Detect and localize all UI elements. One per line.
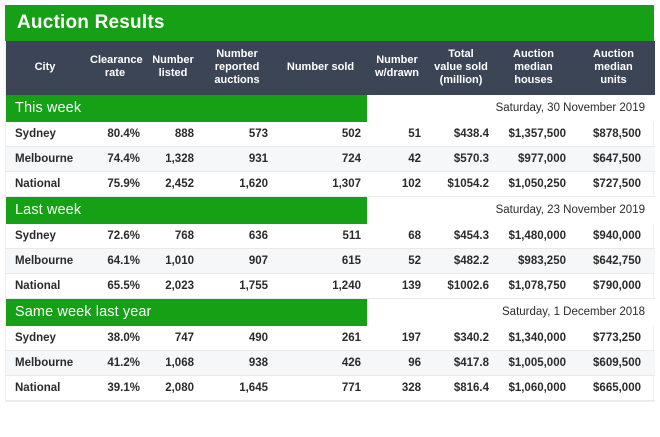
cell-houses: $1,078,750 xyxy=(495,273,572,298)
table-row[interactable]: National65.5%2,0231,7551,240139$1002.6$1… xyxy=(6,273,655,298)
cell-wdrawn: 96 xyxy=(367,350,427,375)
cell-reported: 573 xyxy=(200,122,274,147)
cell-units: $665,000 xyxy=(572,375,655,400)
column-header-line: listed xyxy=(159,67,188,79)
column-header-auction-median-units: Auctionmedianunits xyxy=(572,41,655,95)
table-header: City Clearancerate Numberlisted Numberre… xyxy=(6,41,655,95)
cell-houses: $1,357,500 xyxy=(495,122,572,147)
cell-city: Sydney xyxy=(6,122,84,147)
table-row[interactable]: Melbourne41.2%1,06893842696$417.8$1,005,… xyxy=(6,350,655,375)
column-header-number-withdrawn: Numberw/drawn xyxy=(367,41,427,95)
cell-sold: 261 xyxy=(274,326,367,351)
column-header-line: median xyxy=(514,61,553,73)
column-header-row: City Clearancerate Numberlisted Numberre… xyxy=(6,41,655,95)
cell-value: $482.2 xyxy=(427,248,495,273)
section-header-cell: Last weekSaturday, 23 November 2019 xyxy=(6,196,655,224)
section-header-row: This weekSaturday, 30 November 2019 xyxy=(6,95,655,122)
cell-clearance: 75.9% xyxy=(84,171,146,196)
section-label: Same week last year xyxy=(15,304,152,320)
column-header-line: median xyxy=(594,61,633,73)
cell-units: $773,250 xyxy=(572,326,655,351)
cell-city: Sydney xyxy=(6,224,84,249)
cell-houses: $1,060,000 xyxy=(495,375,572,400)
column-header-number-sold: Number sold xyxy=(274,41,367,95)
auction-results-page: Auction Results City Clearancerate Numbe… xyxy=(0,0,660,437)
cell-value: $1002.6 xyxy=(427,273,495,298)
cell-clearance: 74.4% xyxy=(84,146,146,171)
cell-reported: 931 xyxy=(200,146,274,171)
auction-results-table: City Clearancerate Numberlisted Numberre… xyxy=(6,41,655,401)
table-row[interactable]: Sydney38.0%747490261197$340.2$1,340,000$… xyxy=(6,326,655,351)
cell-sold: 502 xyxy=(274,122,367,147)
table-row[interactable]: Sydney80.4%88857350251$438.4$1,357,500$8… xyxy=(6,122,655,147)
cell-city: Melbourne xyxy=(6,248,84,273)
section-label: Last week xyxy=(15,202,81,218)
cell-listed: 2,080 xyxy=(146,375,200,400)
cell-units: $878,500 xyxy=(572,122,655,147)
cell-city: National xyxy=(6,375,84,400)
cell-city: Melbourne xyxy=(6,350,84,375)
cell-clearance: 64.1% xyxy=(84,248,146,273)
column-header-line: (million) xyxy=(440,74,483,86)
cell-value: $570.3 xyxy=(427,146,495,171)
cell-listed: 1,328 xyxy=(146,146,200,171)
cell-houses: $1,340,000 xyxy=(495,326,572,351)
column-header-line: rate xyxy=(105,67,125,79)
cell-wdrawn: 51 xyxy=(367,122,427,147)
cell-clearance: 80.4% xyxy=(84,122,146,147)
cell-units: $940,000 xyxy=(572,224,655,249)
cell-clearance: 72.6% xyxy=(84,224,146,249)
table-row[interactable]: Sydney72.6%76863651168$454.3$1,480,000$9… xyxy=(6,224,655,249)
column-header-line: value sold xyxy=(434,61,488,73)
cell-units: $790,000 xyxy=(572,273,655,298)
section-header-cell: This weekSaturday, 30 November 2019 xyxy=(6,95,655,122)
cell-units: $727,500 xyxy=(572,171,655,196)
cell-sold: 771 xyxy=(274,375,367,400)
cell-reported: 1,645 xyxy=(200,375,274,400)
cell-wdrawn: 102 xyxy=(367,171,427,196)
cell-listed: 2,023 xyxy=(146,273,200,298)
column-header-line: auctions xyxy=(214,74,259,86)
table-row[interactable]: Melbourne74.4%1,32893172442$570.3$977,00… xyxy=(6,146,655,171)
cell-listed: 1,068 xyxy=(146,350,200,375)
column-header-line: Clearance xyxy=(90,54,143,66)
column-header-auction-median-houses: Auctionmedianhouses xyxy=(495,41,572,95)
cell-sold: 1,307 xyxy=(274,171,367,196)
cell-city: Sydney xyxy=(6,326,84,351)
cell-reported: 1,620 xyxy=(200,171,274,196)
column-header-line: houses xyxy=(514,74,553,86)
column-header-total-value-sold: Totalvalue sold(million) xyxy=(427,41,495,95)
cell-listed: 1,010 xyxy=(146,248,200,273)
column-header-line: units xyxy=(600,74,626,86)
column-header-line: Total xyxy=(448,48,473,60)
section-date-box: Saturday, 1 December 2018 xyxy=(367,299,655,326)
cell-sold: 426 xyxy=(274,350,367,375)
cell-units: $609,500 xyxy=(572,350,655,375)
cell-value: $438.4 xyxy=(427,122,495,147)
cell-wdrawn: 197 xyxy=(367,326,427,351)
table-frame: City Clearancerate Numberlisted Numberre… xyxy=(5,41,654,402)
cell-reported: 636 xyxy=(200,224,274,249)
table-row[interactable]: Melbourne64.1%1,01090761552$482.2$983,25… xyxy=(6,248,655,273)
section-header-cell: Same week last yearSaturday, 1 December … xyxy=(6,298,655,326)
cell-houses: $977,000 xyxy=(495,146,572,171)
column-header-city: City xyxy=(6,41,84,95)
cell-listed: 768 xyxy=(146,224,200,249)
cell-houses: $1,050,250 xyxy=(495,171,572,196)
cell-sold: 1,240 xyxy=(274,273,367,298)
column-header-line: Number xyxy=(216,48,258,60)
cell-city: Melbourne xyxy=(6,146,84,171)
table-row[interactable]: National39.1%2,0801,645771328$816.4$1,06… xyxy=(6,375,655,400)
cell-wdrawn: 52 xyxy=(367,248,427,273)
column-header-line: Auction xyxy=(593,48,634,60)
cell-wdrawn: 42 xyxy=(367,146,427,171)
column-header-clearance-rate: Clearancerate xyxy=(84,41,146,95)
cell-houses: $1,480,000 xyxy=(495,224,572,249)
cell-listed: 2,452 xyxy=(146,171,200,196)
cell-clearance: 38.0% xyxy=(84,326,146,351)
column-header-line: Number sold xyxy=(287,61,354,73)
table-body: This weekSaturday, 30 November 2019Sydne… xyxy=(6,95,655,401)
section-header-row: Same week last yearSaturday, 1 December … xyxy=(6,298,655,326)
section-band: Last week xyxy=(6,197,367,224)
section-date-box: Saturday, 23 November 2019 xyxy=(367,197,655,224)
column-header-number-listed: Numberlisted xyxy=(146,41,200,95)
column-header-line: City xyxy=(35,61,56,73)
column-header-line: reported xyxy=(215,61,260,73)
column-header-line: Number xyxy=(376,54,418,66)
cell-reported: 907 xyxy=(200,248,274,273)
cell-houses: $983,250 xyxy=(495,248,572,273)
cell-value: $417.8 xyxy=(427,350,495,375)
cell-clearance: 41.2% xyxy=(84,350,146,375)
section-date: Saturday, 30 November 2019 xyxy=(496,102,645,114)
section-date-box: Saturday, 30 November 2019 xyxy=(367,95,655,122)
page-title: Auction Results xyxy=(17,12,165,34)
cell-reported: 938 xyxy=(200,350,274,375)
cell-wdrawn: 139 xyxy=(367,273,427,298)
cell-reported: 1,755 xyxy=(200,273,274,298)
cell-city: National xyxy=(6,171,84,196)
cell-sold: 615 xyxy=(274,248,367,273)
column-header-line: Auction xyxy=(513,48,554,60)
cell-reported: 490 xyxy=(200,326,274,351)
column-header-number-reported-auctions: Numberreportedauctions xyxy=(200,41,274,95)
section-date: Saturday, 1 December 2018 xyxy=(502,306,645,318)
cell-wdrawn: 68 xyxy=(367,224,427,249)
column-header-line: Number xyxy=(152,54,194,66)
cell-city: National xyxy=(6,273,84,298)
cell-clearance: 39.1% xyxy=(84,375,146,400)
cell-sold: 511 xyxy=(274,224,367,249)
cell-value: $340.2 xyxy=(427,326,495,351)
cell-units: $647,500 xyxy=(572,146,655,171)
section-header-row: Last weekSaturday, 23 November 2019 xyxy=(6,196,655,224)
section-band: This week xyxy=(6,95,367,122)
section-header-wrap: This weekSaturday, 30 November 2019 xyxy=(6,95,655,122)
section-date: Saturday, 23 November 2019 xyxy=(496,204,645,216)
column-header-line: w/drawn xyxy=(375,67,419,79)
cell-value: $454.3 xyxy=(427,224,495,249)
section-band: Same week last year xyxy=(6,299,367,326)
cell-value: $1054.2 xyxy=(427,171,495,196)
page-title-bar: Auction Results xyxy=(5,5,654,41)
section-header-wrap: Same week last yearSaturday, 1 December … xyxy=(6,299,655,326)
cell-value: $816.4 xyxy=(427,375,495,400)
cell-clearance: 65.5% xyxy=(84,273,146,298)
section-header-wrap: Last weekSaturday, 23 November 2019 xyxy=(6,197,655,224)
cell-listed: 888 xyxy=(146,122,200,147)
cell-units: $642,750 xyxy=(572,248,655,273)
cell-wdrawn: 328 xyxy=(367,375,427,400)
cell-sold: 724 xyxy=(274,146,367,171)
cell-houses: $1,005,000 xyxy=(495,350,572,375)
cell-listed: 747 xyxy=(146,326,200,351)
section-label: This week xyxy=(15,100,81,116)
table-row[interactable]: National75.9%2,4521,6201,307102$1054.2$1… xyxy=(6,171,655,196)
